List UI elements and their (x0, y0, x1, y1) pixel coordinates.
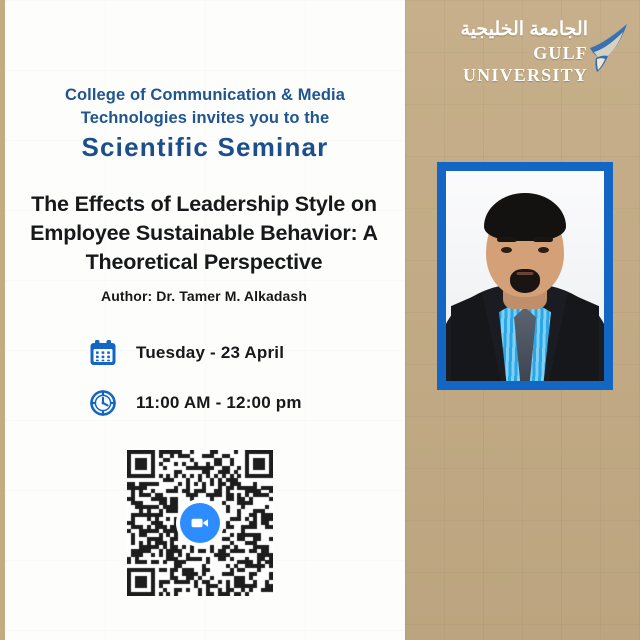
left-edge-strip (0, 0, 5, 640)
university-logo: الجامعة الخليجية GULF UNIVERSITY (418, 18, 630, 80)
intro-line-1: College of Communication & Media (25, 84, 385, 107)
invitation-intro: College of Communication & Media Technol… (25, 84, 385, 130)
seminar-title-line-2: Employee Sustainable Behavior: A (14, 219, 394, 248)
clock-icon (88, 388, 118, 418)
qr-code[interactable] (127, 450, 273, 596)
seminar-author: Author: Dr. Tamer M. Alkadash (14, 286, 394, 306)
intro-line-2: Technologies invites you to the (25, 107, 385, 130)
calendar-icon (88, 338, 118, 368)
portrait-image (446, 171, 604, 381)
detail-value-date: Tuesday - 23 April (136, 343, 284, 363)
seminar-kicker: Scientific Seminar (25, 130, 385, 164)
falcon-icon (586, 22, 630, 74)
seminar-title-line-1: The Effects of Leadership Style on (14, 190, 394, 219)
detail-row-date: Tuesday - 23 April (88, 338, 284, 368)
detail-row-time: 11:00 AM - 12:00 pm (88, 388, 302, 418)
speaker-portrait (437, 162, 613, 390)
detail-value-time: 11:00 AM - 12:00 pm (136, 393, 302, 413)
video-camera-icon (180, 503, 220, 543)
seminar-title-line-3: Theoretical Perspective (14, 248, 394, 277)
seminar-poster: الجامعة الخليجية GULF UNIVERSITY College… (0, 0, 640, 640)
seminar-title: The Effects of Leadership Style on Emplo… (14, 190, 394, 277)
